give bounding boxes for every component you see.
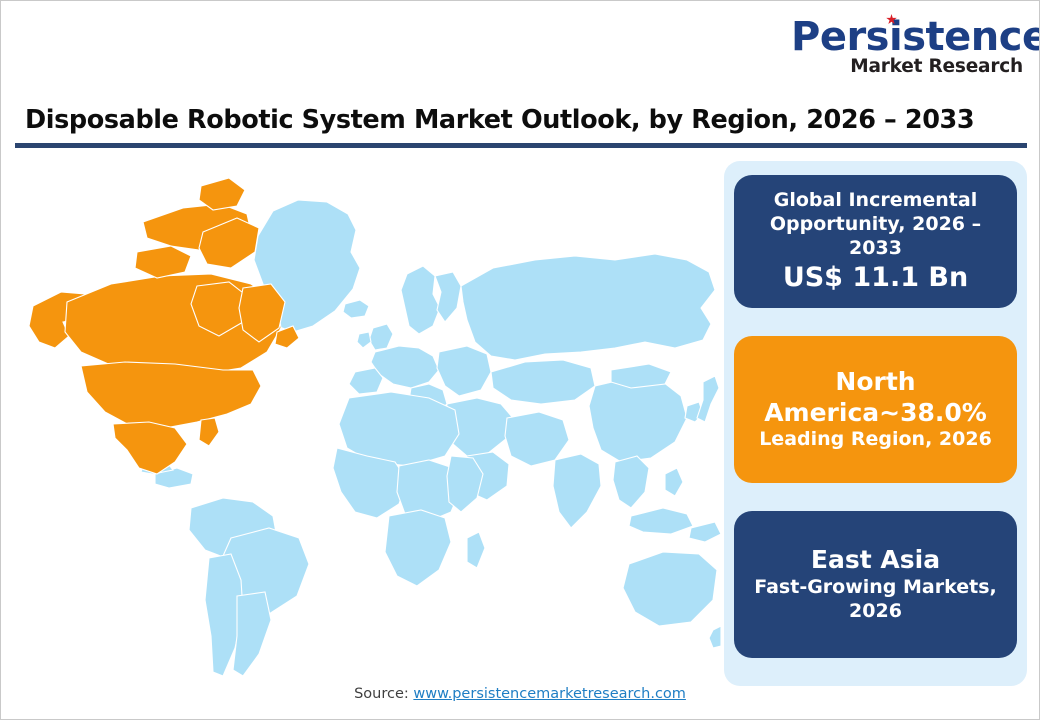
region-finland-baltics	[435, 272, 461, 322]
stats-panel: Global Incremental Opportunity, 2026 – 2…	[724, 161, 1027, 686]
company-logo: Persistence Market Research	[791, 17, 1023, 77]
card-global-line1: Global Incremental	[774, 189, 977, 213]
card-global-line2: Opportunity, 2026 – 2033	[748, 213, 1003, 261]
region-new-zealand	[709, 626, 721, 648]
region-scandinavia	[401, 266, 440, 334]
card-fastgrowing-caption-line1: Fast-Growing Markets,	[754, 576, 997, 600]
region-china	[589, 378, 687, 462]
card-fastgrowing-line1: East Asia	[811, 545, 940, 576]
world-map	[15, 156, 721, 676]
region-victoria-island	[135, 246, 191, 278]
region-philippines	[665, 468, 683, 496]
card-leading-line2: America~38.0%	[764, 398, 987, 429]
region-indonesia	[629, 508, 693, 534]
map-highlight-north-america	[29, 178, 299, 474]
card-fast-growing-market[interactable]: East Asia Fast-Growing Markets, 2026	[734, 511, 1017, 658]
source-label: Source:	[354, 686, 413, 702]
region-southern-africa	[385, 510, 451, 586]
region-united-states	[81, 362, 261, 428]
region-iberia	[349, 368, 383, 394]
source-footer: Source: www.persistencemarketresearch.co…	[1, 686, 1039, 702]
region-british-isles	[369, 324, 393, 350]
region-mongolia	[611, 364, 671, 388]
source-link[interactable]: www.persistencemarketresearch.com	[413, 686, 686, 702]
logo-tagline: Market Research	[791, 58, 1023, 77]
region-east-africa	[447, 456, 483, 512]
card-leading-caption: Leading Region, 2026	[759, 428, 992, 452]
region-iceland	[343, 300, 369, 318]
region-new-guinea	[689, 522, 721, 542]
card-global-value: US$ 11.1 Bn	[783, 261, 968, 294]
region-southeast-asia	[613, 456, 649, 508]
world-map-svg	[15, 156, 721, 676]
title-divider	[15, 143, 1027, 148]
region-india	[553, 454, 601, 528]
card-global-incremental-opportunity[interactable]: Global Incremental Opportunity, 2026 – 2…	[734, 175, 1017, 308]
region-ellesmere	[199, 178, 245, 210]
card-leading-region[interactable]: North America~38.0% Leading Region, 2026	[734, 336, 1017, 483]
region-florida	[199, 418, 219, 446]
page-title: Disposable Robotic System Market Outlook…	[25, 105, 974, 135]
map-base-regions	[141, 200, 721, 676]
region-mexico	[113, 422, 187, 474]
region-japan	[697, 376, 719, 422]
region-ireland	[357, 332, 371, 348]
region-central-asia	[491, 360, 595, 404]
region-madagascar	[467, 532, 485, 568]
card-leading-line1: North	[835, 367, 915, 398]
infographic-page: Persistence Market Research Disposable R…	[0, 0, 1040, 720]
logo-wordmark: Persistence	[791, 17, 1040, 57]
region-east-europe	[437, 346, 491, 396]
region-argentina	[233, 592, 271, 676]
region-russia	[461, 254, 715, 360]
logo-wordmark-text: Persistence	[791, 14, 1040, 60]
region-australia	[623, 552, 717, 626]
card-fastgrowing-caption-line2: 2026	[849, 600, 902, 624]
region-south-west-asia	[505, 412, 569, 466]
